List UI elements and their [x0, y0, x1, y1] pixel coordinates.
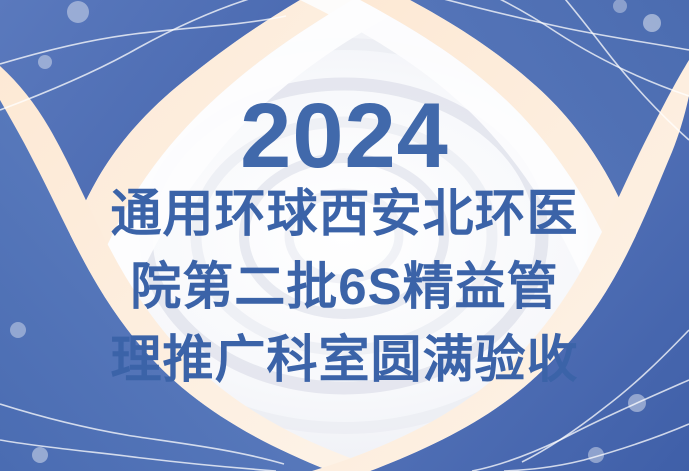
poster-headline-line-3: 理推广科室圆满验收: [110, 334, 578, 385]
poster-canvas: 2024 通用环球西安北环医 院第二批6S精益管 理推广科室圆满验收: [0, 0, 689, 471]
poster-year: 2024: [240, 92, 449, 180]
poster-headline-line-2: 院第二批6S精益管: [130, 261, 558, 312]
poster-text-block: 2024 通用环球西安北环医 院第二批6S精益管 理推广科室圆满验收: [0, 0, 689, 471]
poster-headline-line-1: 通用环球西安北环医: [110, 188, 578, 239]
